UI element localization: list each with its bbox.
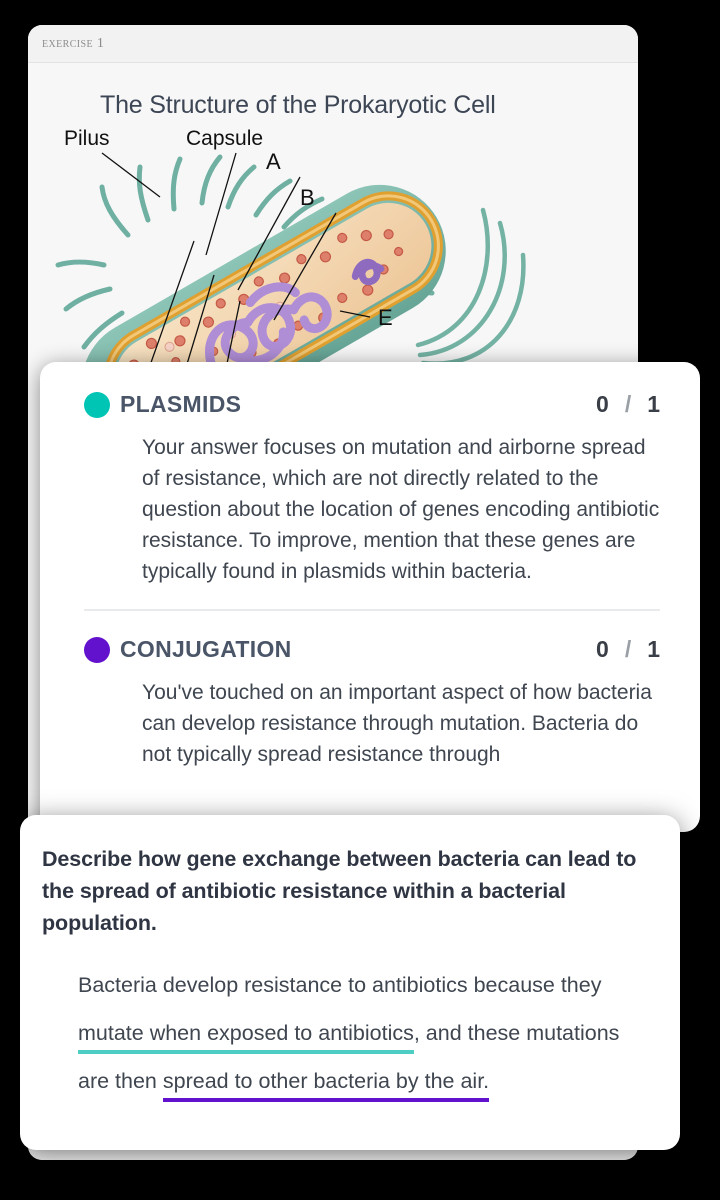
feedback-item-text: Your answer focuses on mutation and airb… xyxy=(142,432,660,587)
feedback-item[interactable]: CONJUGATION 0 / 1 You've touched on an i… xyxy=(62,629,678,770)
screen-root: Exercise 1 The Structure of the Prokaryo… xyxy=(0,0,720,1200)
answer-segment: mutate when exposed to antibiotics xyxy=(78,1021,414,1054)
feedback-card: PLASMIDS 0 / 1 Your answer focuses on mu… xyxy=(40,362,700,832)
answer-card: Describe how gene exchange between bacte… xyxy=(20,815,680,1150)
diagram-label-pilus: Pilus xyxy=(64,127,110,150)
feedback-item-title: CONJUGATION xyxy=(120,636,596,663)
diagram-label-b: B xyxy=(300,185,315,210)
feedback-item-header: CONJUGATION 0 / 1 xyxy=(62,629,678,669)
feedback-divider xyxy=(84,609,660,611)
score-separator: / xyxy=(625,636,631,663)
exercise-label: Exercise 1 xyxy=(42,36,104,52)
status-dot-icon xyxy=(84,637,110,663)
feedback-item-header: PLASMIDS 0 / 1 xyxy=(62,384,678,424)
score-total: 1 xyxy=(647,636,660,663)
diagram-label-e: E xyxy=(378,305,393,330)
score-total: 1 xyxy=(647,391,660,418)
question-prompt: Describe how gene exchange between bacte… xyxy=(42,843,650,939)
score-value: 0 xyxy=(596,636,609,663)
answer-segment: spread to other bacteria by the air. xyxy=(163,1069,489,1102)
score-value: 0 xyxy=(596,391,609,418)
exercise-header: Exercise 1 xyxy=(28,25,638,63)
feedback-item-score: 0 / 1 xyxy=(596,391,678,418)
feedback-item-title: PLASMIDS xyxy=(120,391,596,418)
feedback-item-score: 0 / 1 xyxy=(596,636,678,663)
feedback-item[interactable]: PLASMIDS 0 / 1 Your answer focuses on mu… xyxy=(62,384,678,587)
answer-segment: Bacteria develop resistance to antibioti… xyxy=(78,973,601,997)
feedback-item-text: You've touched on an important aspect of… xyxy=(142,677,660,770)
status-dot-icon xyxy=(84,392,110,418)
diagram-label-capsule: Capsule xyxy=(186,127,263,150)
student-answer[interactable]: Bacteria develop resistance to antibioti… xyxy=(78,961,650,1105)
diagram-label-a: A xyxy=(266,149,281,174)
score-separator: / xyxy=(625,391,631,418)
